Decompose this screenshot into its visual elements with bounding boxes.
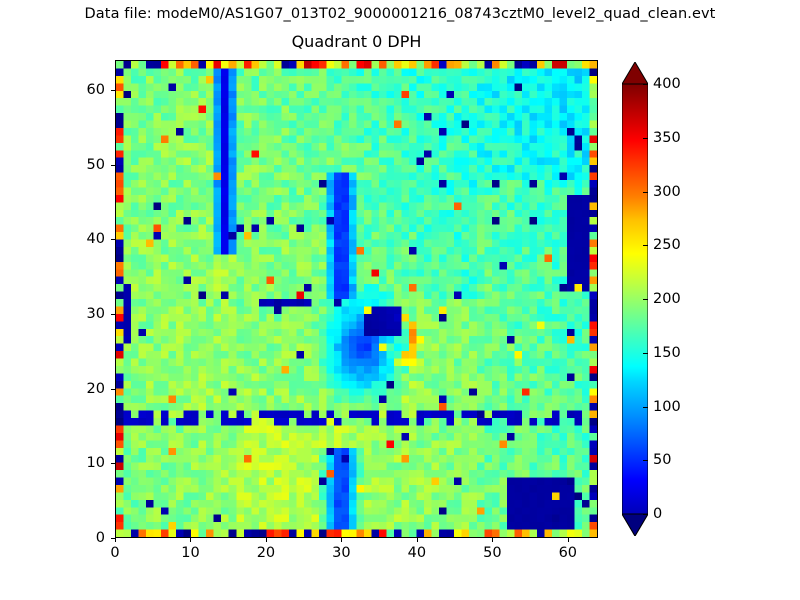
x-tick-label: 20 [257, 545, 275, 561]
y-tick-mark [111, 239, 115, 240]
x-tick-label: 40 [408, 545, 426, 561]
colorbar-tick-label: 300 [653, 184, 681, 200]
y-tick-label: 10 [73, 455, 105, 471]
colorbar-tick-label: 150 [653, 345, 681, 361]
x-tick-mark [266, 538, 267, 542]
colorbar-tick-label: 250 [653, 237, 681, 253]
y-tick-label: 20 [73, 381, 105, 397]
colorbar-tick-mark [643, 299, 648, 300]
y-tick-mark [111, 389, 115, 390]
colorbar-over-arrow [622, 62, 648, 84]
y-tick-label: 40 [73, 231, 105, 247]
figure-suptitle: Data file: modeM0/AS1G07_013T02_90000012… [0, 6, 800, 22]
x-tick-mark [417, 538, 418, 542]
colorbar-tick-label: 400 [653, 76, 681, 92]
x-tick-mark [492, 538, 493, 542]
x-tick-label: 0 [110, 545, 119, 561]
matplotlib-figure: Data file: modeM0/AS1G07_013T02_90000012… [0, 0, 800, 600]
colorbar-tick-mark [643, 407, 648, 408]
x-tick-mark [115, 538, 116, 542]
y-tick-mark [111, 538, 115, 539]
y-tick-label: 60 [73, 82, 105, 98]
y-tick-label: 50 [73, 157, 105, 173]
y-tick-mark [111, 90, 115, 91]
colorbar-tick-mark [643, 192, 648, 193]
colorbar-tick-label: 0 [653, 506, 662, 522]
x-tick-label: 50 [483, 545, 501, 561]
y-tick-mark [111, 463, 115, 464]
colorbar-tick-mark [643, 84, 648, 85]
colorbar: 050100150200250300350400 [622, 62, 648, 536]
x-tick-label: 10 [181, 545, 199, 561]
colorbar-tick-label: 350 [653, 130, 681, 146]
colorbar-tick-label: 100 [653, 399, 681, 415]
x-tick-mark [190, 538, 191, 542]
colorbar-tick-mark [643, 460, 648, 461]
y-tick-label: 30 [73, 306, 105, 322]
heatmap-axes [115, 60, 598, 538]
colorbar-tick-label: 50 [653, 452, 671, 468]
colorbar-body [622, 84, 648, 536]
x-tick-mark [568, 538, 569, 542]
y-tick-mark [111, 314, 115, 315]
colorbar-tick-mark [643, 138, 648, 139]
y-tick-mark [111, 165, 115, 166]
colorbar-tick-mark [643, 514, 648, 515]
x-tick-label: 60 [559, 545, 577, 561]
dph-heatmap-image [116, 61, 597, 537]
colorbar-tick-mark [643, 245, 648, 246]
colorbar-tick-label: 200 [653, 291, 681, 307]
x-tick-label: 30 [332, 545, 350, 561]
page-title: Quadrant 0 DPH [115, 32, 598, 51]
colorbar-under-arrow [622, 514, 648, 536]
y-tick-label: 0 [73, 530, 105, 546]
x-tick-mark [341, 538, 342, 542]
colorbar-tick-mark [643, 353, 648, 354]
